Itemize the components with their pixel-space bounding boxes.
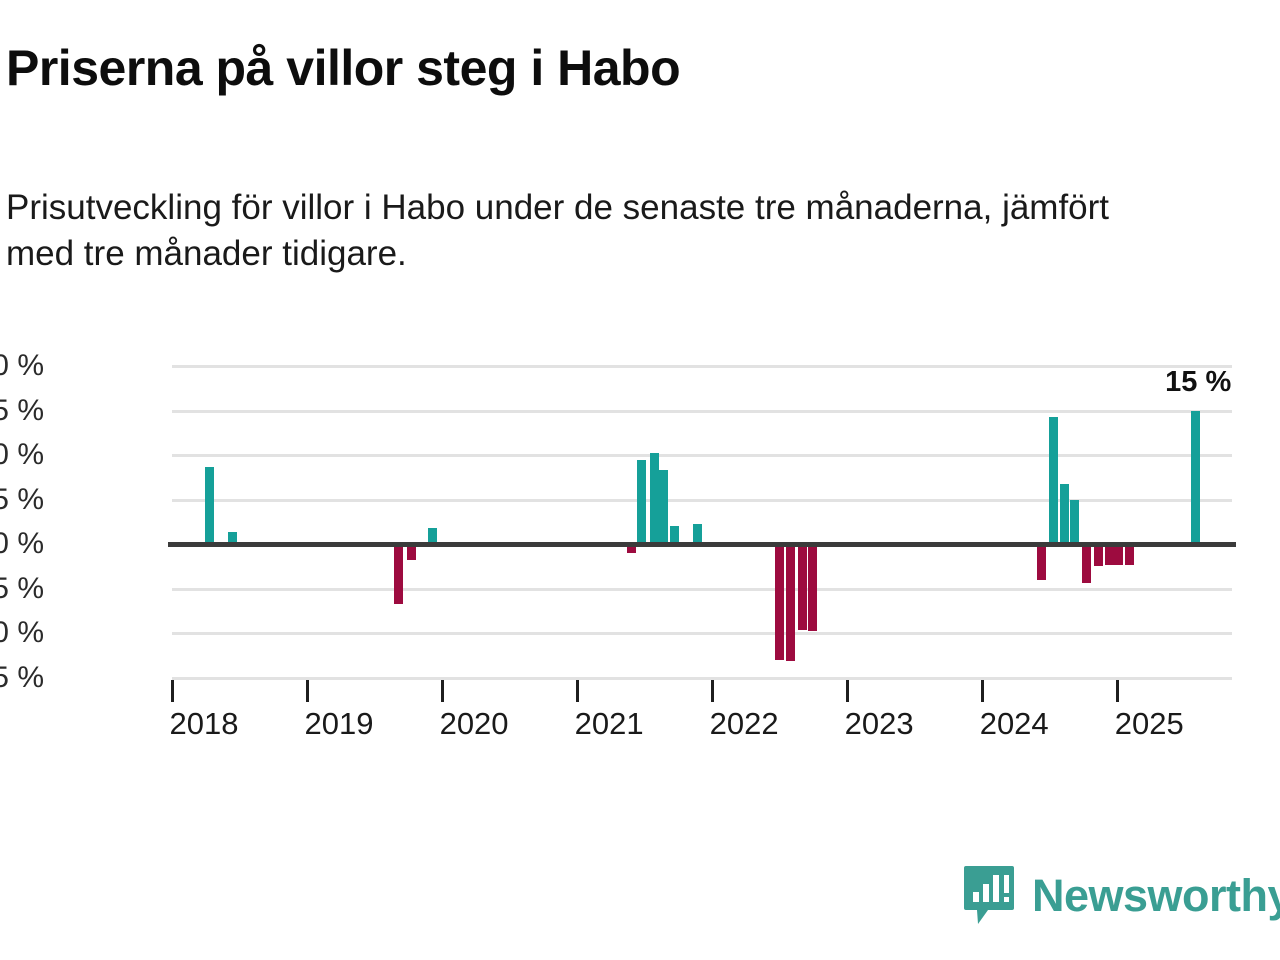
gridline <box>172 410 1232 413</box>
page-subtitle: Prisutveckling för villor i Habo under d… <box>6 185 1156 277</box>
logo-wordmark: Newsworthy <box>1032 873 1280 918</box>
bar <box>1070 500 1079 545</box>
newsworthy-logo: Newsworthy <box>962 864 1280 926</box>
bar <box>808 544 817 630</box>
bar <box>1191 411 1200 545</box>
x-axis-tick <box>846 680 849 702</box>
y-axis-tick-label: 5 % <box>0 483 44 517</box>
bar <box>650 453 659 544</box>
bar <box>205 467 214 545</box>
y-axis-tick-label: 0 % <box>0 527 44 561</box>
x-axis: 20182019202020212022202320242025 <box>172 678 1232 748</box>
x-axis-tick <box>1116 680 1119 702</box>
zero-baseline <box>168 542 1236 547</box>
gridline <box>172 454 1232 457</box>
x-axis-tick <box>171 680 174 702</box>
bar <box>637 460 646 544</box>
bar <box>1094 544 1103 565</box>
x-axis-tick-label: 2024 <box>980 706 1049 742</box>
gridline <box>172 632 1232 635</box>
bar <box>1037 544 1046 580</box>
x-axis-tick-label: 2020 <box>440 706 509 742</box>
chart-page: Priserna på villor steg i Habo Prisutvec… <box>0 0 1280 960</box>
y-axis-tick-label: −10 % <box>0 616 44 650</box>
x-axis-tick-label: 2023 <box>845 706 914 742</box>
bar <box>1114 544 1123 565</box>
x-axis-tick <box>441 680 444 702</box>
y-axis-tick-label: −15 % <box>0 661 44 695</box>
x-axis-tick-label: 2025 <box>1115 706 1184 742</box>
gridline <box>172 365 1232 368</box>
x-axis-tick-label: 2021 <box>575 706 644 742</box>
x-axis-tick <box>981 680 984 702</box>
bar <box>394 544 403 604</box>
bar-chart: 20 %15 %10 %5 %0 %−5 %−10 %−15 %15 % 201… <box>0 340 1280 750</box>
x-axis-tick <box>711 680 714 702</box>
bar <box>659 470 668 544</box>
bar <box>693 524 702 545</box>
y-axis-tick-label: 15 % <box>0 394 44 428</box>
x-axis-tick-label: 2018 <box>170 706 239 742</box>
y-axis-tick-label: 10 % <box>0 438 44 472</box>
bar <box>775 544 784 660</box>
x-axis-tick-label: 2022 <box>710 706 779 742</box>
bar <box>1125 544 1134 565</box>
y-axis-tick-label: 20 % <box>0 349 44 383</box>
page-title: Priserna på villor steg i Habo <box>6 42 680 95</box>
x-axis-tick-label: 2019 <box>305 706 374 742</box>
x-axis-tick <box>576 680 579 702</box>
gridline <box>172 588 1232 591</box>
y-axis-tick-label: −5 % <box>0 572 44 606</box>
bar <box>1060 484 1069 545</box>
x-axis-tick <box>306 680 309 702</box>
bar <box>786 544 795 661</box>
plot-area: 20 %15 %10 %5 %0 %−5 %−10 %−15 %15 % <box>172 366 1232 678</box>
value-annotation: 15 % <box>1165 366 1231 399</box>
bar <box>1105 544 1114 565</box>
bar-chart-speech-bubble-icon <box>962 864 1016 926</box>
bar <box>1082 544 1091 582</box>
bar <box>798 544 807 630</box>
bar <box>1049 417 1058 544</box>
